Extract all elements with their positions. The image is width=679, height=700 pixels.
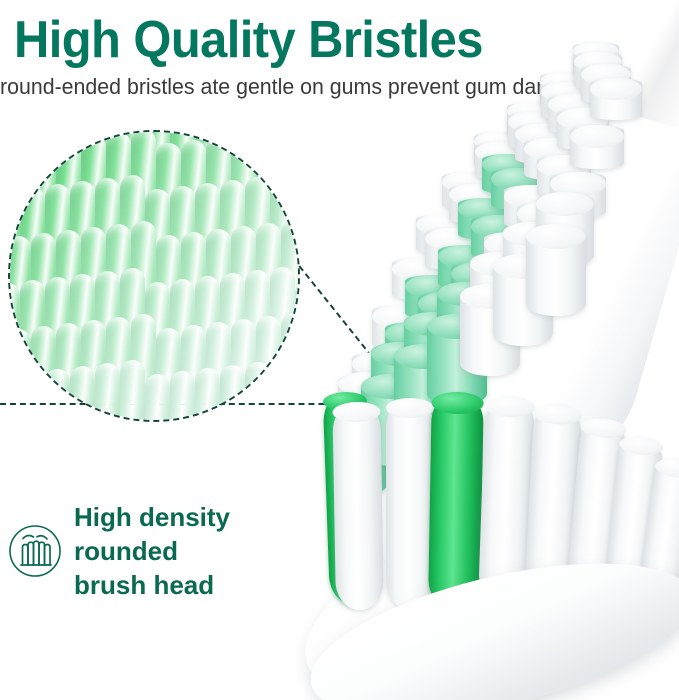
bristle-tuft: [570, 125, 624, 169]
bristle-tuft: [428, 392, 484, 611]
magnified-bristle: [270, 359, 295, 422]
tuft-body: [332, 402, 384, 611]
product-feature-image: High Quality Bristles round-ended bristl…: [0, 0, 679, 700]
magnified-bristle: [45, 369, 70, 422]
tuft-body: [386, 398, 434, 610]
tuft-cap: [386, 398, 434, 418]
bristle-tuft: [386, 398, 434, 610]
magnified-bristle: [170, 371, 195, 422]
magnified-bristle: [70, 366, 95, 422]
feature-line-1: High density: [74, 500, 304, 534]
brush-head-density-icon: [8, 524, 62, 578]
magnified-bristle: [245, 362, 270, 422]
feature-line-2: rounded: [74, 534, 304, 568]
tuft-cap: [590, 78, 642, 100]
magnified-bristles-circle: [8, 130, 300, 422]
feature-line-3: brush head: [74, 568, 304, 602]
feature-text: High density rounded brush head: [74, 500, 304, 602]
magnified-bristle: [120, 360, 145, 422]
tuft-cap: [570, 125, 624, 148]
tuft-body: [428, 392, 484, 611]
magnified-bristle: [145, 374, 170, 422]
tuft-cap: [526, 224, 586, 249]
magnified-bristles-content: [8, 130, 300, 422]
bristle-tuft: [526, 224, 586, 316]
magnified-bristle: [220, 365, 245, 422]
magnified-bristle: [20, 372, 45, 422]
magnified-bristle: [195, 368, 220, 422]
bristle-tuft: [332, 402, 384, 611]
tuft-cap: [536, 192, 594, 216]
bristle-tuft: [590, 78, 642, 120]
magnified-bristle: [8, 375, 20, 422]
magnified-bristle: [95, 363, 120, 422]
